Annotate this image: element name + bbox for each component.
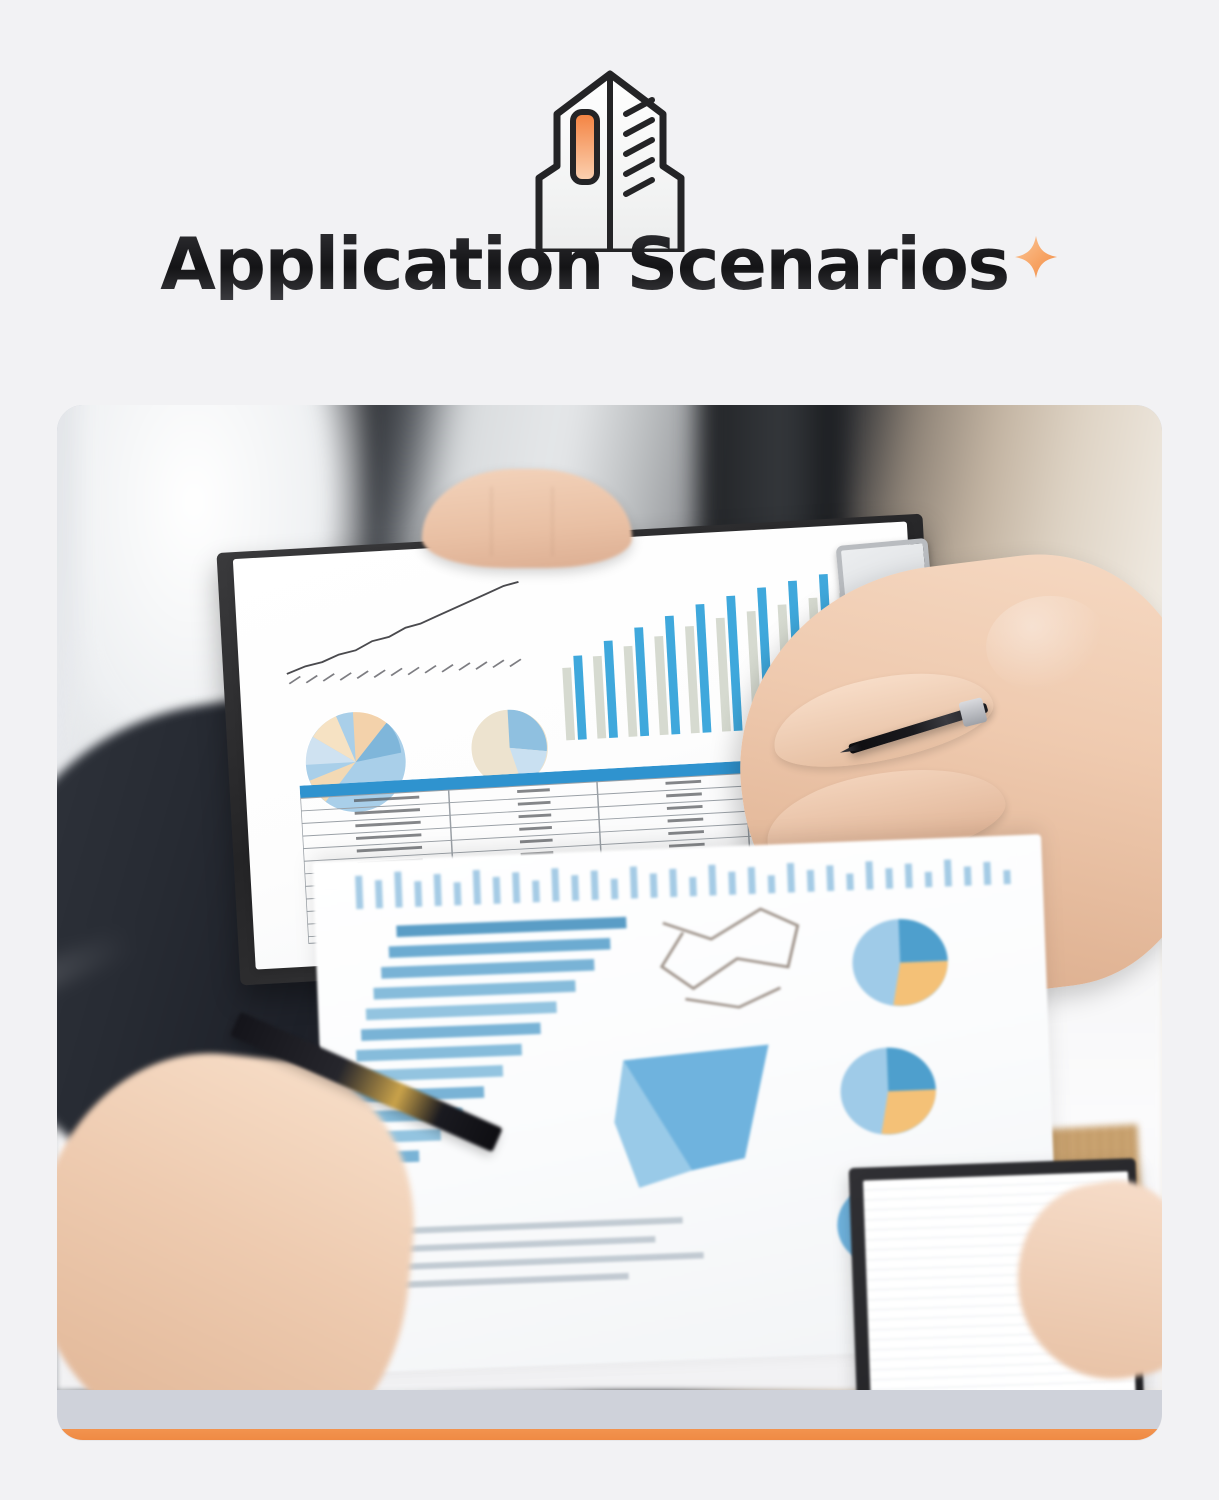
report-line-chart	[275, 574, 564, 688]
scenario-photo-card: Document Contr	[57, 405, 1162, 1440]
sleeve-fold	[57, 927, 136, 1001]
photo-scene	[57, 405, 1162, 1390]
scenario-photo	[57, 405, 1162, 1390]
title-row: Application Scenarios	[0, 228, 1219, 300]
page-title: Application Scenarios	[160, 228, 1009, 300]
header: Application Scenarios	[0, 0, 1219, 380]
report-pie-chart-b	[464, 702, 556, 781]
page-root: Application Scenarios	[0, 0, 1219, 1500]
sparkle-star-icon	[1013, 234, 1059, 280]
